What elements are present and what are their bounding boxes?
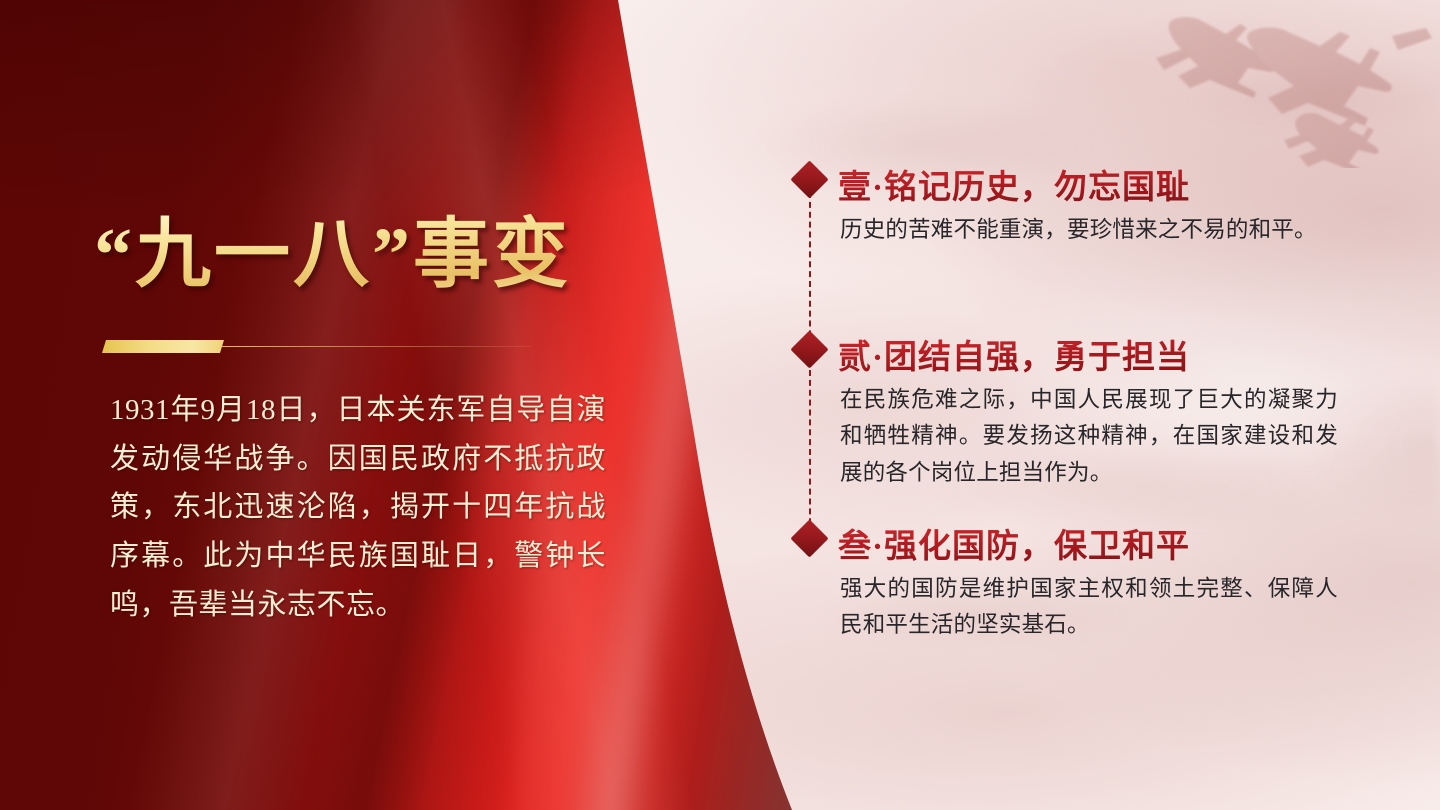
page-title: “九一八”事变 [94,214,654,298]
list-item-title: 贰·团结自强，勇于担当 [838,330,1190,378]
left-content-column: “九一八”事变 1931年9月18日，日本关东军自导自演发动侵华战争。因国民政府… [102,0,622,810]
diamond-bullet-icon [790,160,828,198]
list-item-body: 强大的国防是维护国家主权和领土完整、保障人民和平生活的坚实基石。 [840,571,1338,644]
title-divider [102,338,532,354]
list-item-title: 叁·强化国防，保卫和平 [838,519,1190,567]
list-item-title: 壹·铭记历史，勿忘国耻 [838,160,1190,208]
diamond-bullet-icon [790,330,828,368]
right-content-column: 壹·铭记历史，勿忘国耻 历史的苦难不能重演，要珍惜来之不易的和平。 贰·团结自强… [790,0,1440,810]
list-item-body: 历史的苦难不能重演，要珍惜来之不易的和平。 [840,212,1338,248]
divider-thin-line [222,346,532,347]
intro-paragraph: 1931年9月18日，日本关东军自导自演发动侵华战争。因国民政府不抵抗政策，东北… [110,386,606,630]
diamond-bullet-icon [790,519,828,557]
list-item-body: 在民族危难之际，中国人民展现了巨大的凝聚力和牺牲精神。要发扬这种精神，在国家建设… [840,382,1338,491]
divider-gold-bar [102,340,224,353]
slide-canvas: “九一八”事变 1931年9月18日，日本关东军自导自演发动侵华战争。因国民政府… [0,0,1440,810]
